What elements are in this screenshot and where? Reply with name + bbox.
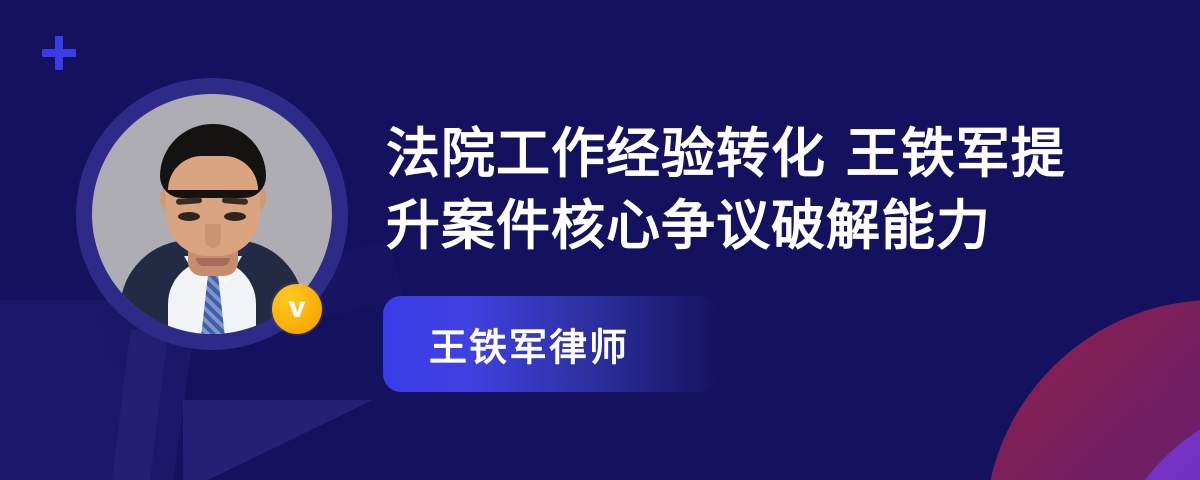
- decorative-wedge: [183, 400, 373, 480]
- lawyer-name-pill: 王铁军律师: [383, 296, 720, 392]
- lawyer-name-label: 王铁军律师: [429, 317, 629, 372]
- page-title: 法院工作经验转化 王铁军提升案件核心争议破解能力: [386, 118, 1086, 262]
- decorative-band-narrow: [110, 330, 169, 480]
- lawyer-promo-banner: 王铁军律师 法院工作经验转化 王铁军提升案件核心争议破解能力: [0, 0, 1200, 480]
- headline-block: 法院工作经验转化 王铁军提升案件核心争议破解能力: [386, 118, 1086, 262]
- plus-icon: [42, 36, 76, 70]
- verified-check-icon: [272, 284, 322, 334]
- decorative-circle-magenta: [985, 300, 1200, 480]
- decorative-circle-violet: [1105, 400, 1200, 480]
- avatar: [76, 78, 348, 350]
